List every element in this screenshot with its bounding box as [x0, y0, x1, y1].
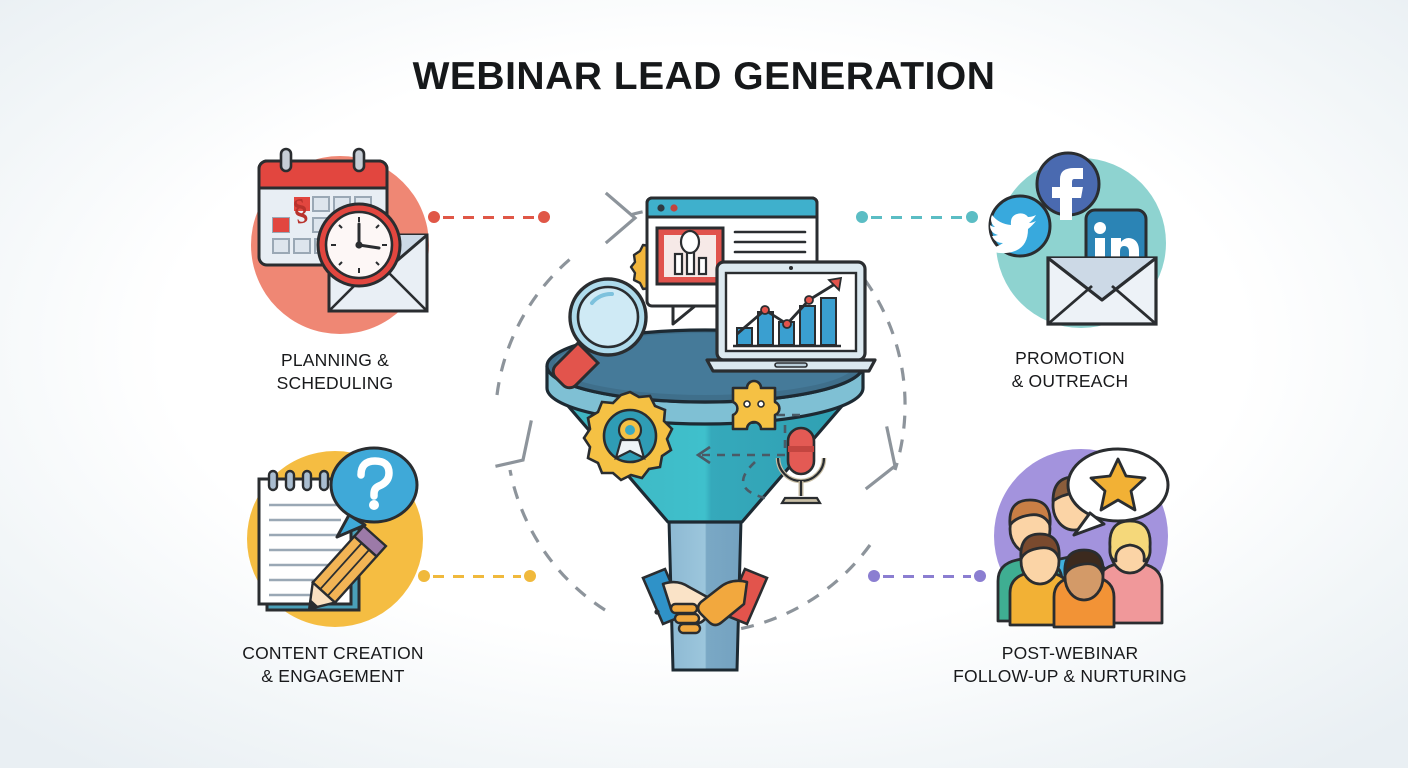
connector-dash	[443, 216, 535, 219]
quadrant-post-webinar-follow-up[interactable]: POST-WEBINAR FOLLOW-UP & NURTURING	[920, 443, 1220, 688]
twitter-icon	[985, 196, 1050, 256]
quadrant-planning-scheduling[interactable]: §	[185, 150, 485, 395]
planning-scheduling-badge: §	[243, 150, 428, 335]
connector-dot-start	[428, 211, 440, 223]
page-title: WEBINAR LEAD GENERATION	[0, 55, 1408, 99]
quadrant-label: PROMOTION & OUTREACH	[920, 347, 1220, 393]
connector-dot-start	[868, 570, 880, 582]
connector-promotion-outreach	[856, 211, 978, 223]
connector-dot-end	[966, 211, 978, 223]
connector-dot-start	[856, 211, 868, 223]
quadrant-label: CONTENT CREATION & ENGAGEMENT	[183, 642, 483, 688]
connector-planning-scheduling	[428, 211, 550, 223]
star-review-bubble-icon	[1068, 449, 1168, 535]
funnel-top-icons	[455, 170, 955, 690]
connector-dot-end	[538, 211, 550, 223]
connector-dash	[433, 575, 521, 578]
connector-content-creation	[418, 570, 536, 582]
promotion-outreach-badge	[978, 148, 1163, 333]
content-creation-badge	[241, 443, 426, 628]
post-webinar-badge	[978, 443, 1163, 628]
connector-dot-end	[974, 570, 986, 582]
laptop-analytics-icon	[707, 262, 875, 371]
question-bubble-icon	[331, 448, 417, 537]
connector-post-webinar	[868, 570, 986, 582]
connector-dot-end	[524, 570, 536, 582]
lead-generation-funnel	[455, 170, 955, 690]
envelope-icon	[1048, 258, 1156, 324]
quadrant-label: PLANNING & SCHEDULING	[185, 349, 485, 395]
connector-dot-start	[418, 570, 430, 582]
quadrant-label: POST-WEBINAR FOLLOW-UP & NURTURING	[920, 642, 1220, 688]
connector-dash	[883, 575, 971, 578]
connector-dash	[871, 216, 963, 219]
quadrant-promotion-outreach[interactable]: PROMOTION & OUTREACH	[920, 148, 1220, 393]
quadrant-content-creation-engagement[interactable]: CONTENT CREATION & ENGAGEMENT	[183, 443, 483, 688]
magnifier-icon	[553, 279, 646, 388]
infographic-canvas: WEBINAR LEAD GENERATION	[0, 0, 1408, 768]
clock-icon	[318, 204, 400, 286]
